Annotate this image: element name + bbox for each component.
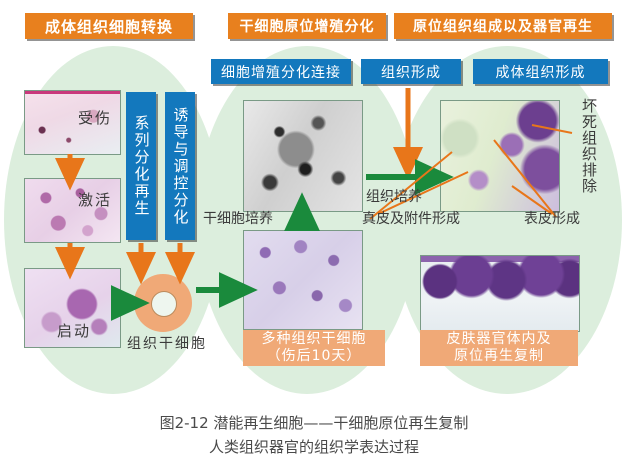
label-necrotic-tissue-removal: 坏死组织排除	[578, 98, 596, 216]
micrograph-caption: 启动	[57, 320, 91, 341]
header-banner-insitu-organ-regeneration[interactable]: 原位组织组成以及器官再生	[394, 13, 612, 39]
tissue-stem-cell-torus	[134, 274, 192, 332]
header-banner-adult-cell-conversion[interactable]: 成体组织细胞转换	[25, 13, 193, 39]
micrograph-regenerated-skin	[420, 255, 580, 332]
header-banner-label: 干细胞原位增殖分化	[240, 16, 375, 36]
blue-box-label: 诱导与调控分化	[173, 107, 188, 226]
figure-caption-line-2: 人类组织器官的组织学表达过程	[0, 436, 628, 457]
blue-box-tissue-formation[interactable]: 组织形成	[361, 59, 461, 84]
chip-skin-organ-insitu-regeneration: 皮肤器官体内及 原位再生复制	[420, 330, 578, 366]
blue-box-label: 成体组织形成	[496, 62, 586, 82]
figure-root: 成体组织细胞转换 干细胞原位增殖分化 原位组织组成以及器官再生 细胞增殖分化连接…	[0, 0, 628, 457]
chip-line-1: 皮肤器官体内及	[447, 331, 552, 349]
label-tissue-culture: 组织培养	[366, 186, 422, 206]
blue-box-adult-tissue-formation[interactable]: 成体组织形成	[473, 59, 608, 84]
chip-line-2: 原位再生复制	[454, 348, 544, 366]
header-banner-label: 原位组织组成以及器官再生	[413, 16, 593, 36]
micrograph-caption: 激活	[78, 189, 112, 210]
blue-box-induction-regulation-differentiation[interactable]: 诱导与调控分化	[165, 92, 195, 240]
chip-line-1: 多种组织干细胞	[262, 331, 367, 349]
label-dermis-and-appendage-formation: 真皮及附件形成	[362, 208, 460, 228]
blue-box-label: 细胞增殖分化连接	[221, 62, 341, 82]
torus-hole	[151, 291, 177, 317]
header-banner-insitu-proliferation[interactable]: 干细胞原位增殖分化	[228, 13, 386, 39]
micrograph-stem-cell-culture	[243, 100, 363, 212]
label-tissue-stem-cell: 组织干细胞	[127, 333, 207, 353]
blue-box-serial-differentiation-regeneration[interactable]: 系列分化再生	[126, 92, 156, 240]
micrograph-activation: 激活	[24, 178, 121, 243]
blue-box-label: 组织形成	[381, 62, 441, 82]
micrograph-caption: 受伤	[78, 107, 112, 128]
label-epidermis-formation: 表皮形成	[524, 208, 580, 228]
header-banner-label: 成体组织细胞转换	[45, 16, 173, 37]
blue-box-label: 系列分化再生	[134, 115, 149, 217]
label-stem-cell-culture: 干细胞培养	[203, 208, 273, 228]
micrograph-multi-tissue-stem-cells	[243, 230, 363, 330]
micrograph-wound: 受伤	[24, 90, 121, 155]
chip-line-2: （伤后10天）	[267, 348, 362, 366]
micrograph-initiation: 启动	[24, 268, 121, 348]
chip-multi-tissue-stem-cells: 多种组织干细胞 （伤后10天）	[243, 330, 385, 366]
figure-caption-line-1: 图2-12 潜能再生细胞——干细胞原位再生复制	[0, 412, 628, 433]
blue-box-cell-proliferation-junction[interactable]: 细胞增殖分化连接	[211, 59, 351, 84]
micrograph-regenerated-tissue	[440, 100, 560, 212]
